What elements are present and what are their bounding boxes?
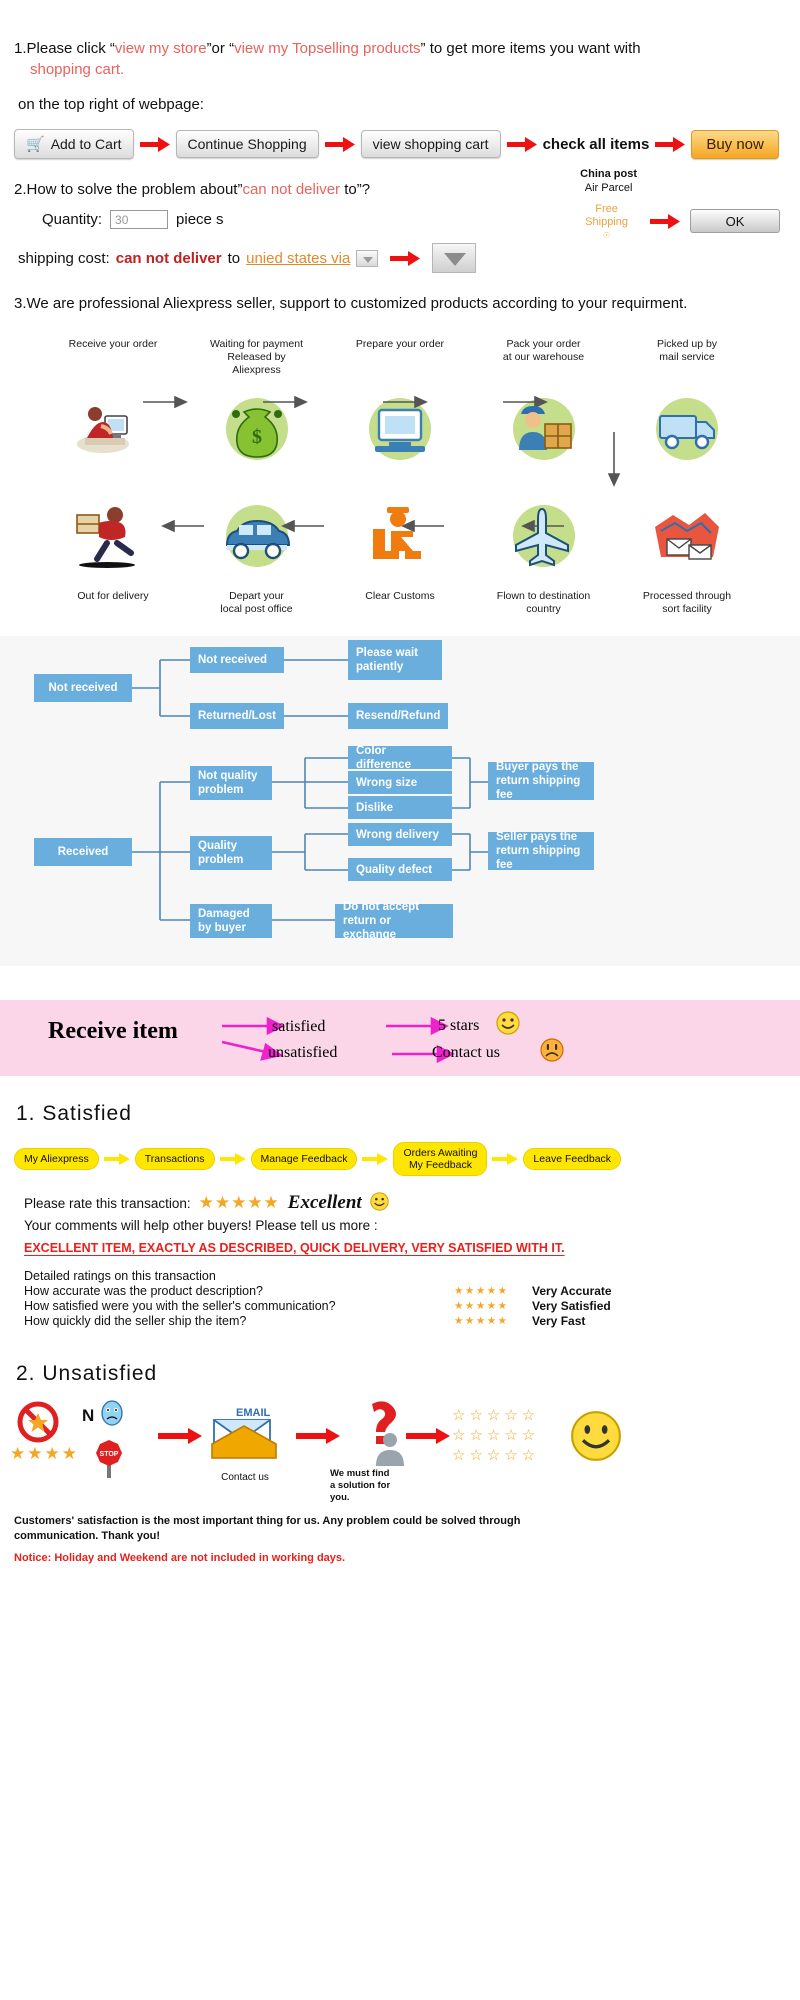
step-transactions-button[interactable]: Transactions	[135, 1148, 215, 1170]
shipping-flow-top-captions: Receive your order Waiting for payment R…	[0, 338, 800, 383]
step-manage-feedback-button[interactable]: Manage Feedback	[251, 1148, 358, 1170]
stop-sign-icon: STOP	[92, 1438, 126, 1483]
flowchart-label: Damaged by buyer	[198, 907, 250, 935]
buy-now-button[interactable]: Buy now	[691, 130, 779, 159]
flow-caption: Pack your order at our warehouse	[491, 338, 597, 364]
detailed-rating-row: How satisfied were you with the seller's…	[0, 1298, 800, 1313]
flowchart-box-do-not-accept: Do not accept return or exchange	[335, 904, 453, 938]
smiley-happy-icon	[370, 1192, 389, 1214]
flowchart-label: Not quality problem	[198, 769, 257, 797]
flow-caption: Picked up by mail service	[634, 338, 740, 364]
rating-stars[interactable]: ★★★★★	[199, 1193, 280, 1213]
flow-caption: Prepare your order	[347, 338, 453, 351]
flowchart-box-received-root: Received	[34, 838, 132, 866]
footer-notice: Notice: Holiday and Weekend are not incl…	[0, 1544, 800, 1564]
flowchart-box-please-wait: Please wait patiently	[348, 640, 442, 680]
section1-shopping-cart-text: shopping cart.	[0, 59, 800, 80]
flow-icon-cell	[634, 383, 740, 475]
red-arrow-icon	[655, 137, 685, 152]
flow-caption-cell: Picked up by mail service	[634, 338, 740, 377]
rating-label: Very Fast	[532, 1314, 585, 1328]
unsatisfied-graphic: ★★★★ N STOP EMAIL Contact us	[0, 1398, 800, 1508]
flow-caption: Out for delivery	[60, 590, 166, 603]
flow-icon-cell	[634, 490, 740, 582]
section1-text-pre: 1.Please click “	[14, 40, 115, 57]
svg-text:$: $	[252, 426, 262, 448]
rating-excellent-label: Excellent	[288, 1192, 362, 1214]
flowchart-box-seller-pays: Seller pays the return shipping fee	[488, 832, 594, 870]
shipping-method-dropdown[interactable]	[432, 243, 476, 273]
rating-stars[interactable]: ★★★★★	[454, 1315, 532, 1327]
step-my-aliexpress-button[interactable]: My Aliexpress	[14, 1148, 99, 1170]
flowchart-box-not-received-root: Not received	[34, 674, 132, 702]
add-to-cart-label: Add to Cart	[51, 136, 122, 152]
flow-caption: Processed through sort facility	[634, 590, 740, 616]
add-to-cart-button[interactable]: 🛒 Add to Cart	[14, 129, 134, 159]
shipping-country-select-label[interactable]: unied states via	[246, 250, 350, 267]
section2-heading-pre: 2.How to solve the problem about”	[14, 181, 242, 198]
rate-transaction-label: Please rate this transaction:	[24, 1196, 191, 1211]
shipping-to-label: to	[228, 250, 241, 267]
money-bag-icon: $	[204, 383, 310, 475]
shipping-flow-bottom-icons	[0, 476, 800, 582]
flowchart-box-quality-problem: Quality problem	[190, 836, 272, 870]
flow-caption: Depart your local post office	[204, 590, 310, 616]
smiley-happy-icon	[570, 1410, 622, 1467]
receive-five-stars-label: 5 stars	[438, 1017, 479, 1035]
flow-caption-cell: Receive your order	[60, 338, 166, 377]
flow-caption-cell: Pack your order at our warehouse	[491, 338, 597, 377]
worker-with-box-icon	[491, 383, 597, 475]
unsatisfied-section: 2. Unsatisfied ★★★★ N STOP EMAIL	[0, 1328, 800, 1564]
flow-caption-cell: Flown to destination country	[491, 590, 597, 616]
detailed-rating-row: How accurate was the product description…	[0, 1283, 800, 1298]
receive-item-banner: Receive item satisfied unsatisfied 5 sta…	[0, 1000, 800, 1076]
rate-transaction-row: Please rate this transaction: ★★★★★ Exce…	[0, 1176, 800, 1214]
flow-caption-cell: Depart your local post office	[204, 590, 310, 616]
flow-caption: Receive your order	[60, 338, 166, 351]
continue-shopping-label: Continue Shopping	[188, 136, 307, 152]
rating-stars[interactable]: ★★★★★	[454, 1300, 532, 1312]
section1-line1: 1.Please click “view my store”or “view m…	[0, 38, 800, 59]
flow-caption: Flown to destination country	[491, 590, 597, 616]
footer-line1: Customers' satisfaction is the most impo…	[0, 1508, 800, 1529]
flow-caption-cell: Prepare your order	[347, 338, 453, 377]
flowchart-label: Please wait patiently	[356, 646, 418, 674]
yellow-arrow-icon	[104, 1151, 130, 1168]
link-view-my-store[interactable]: view my store	[115, 40, 207, 57]
red-arrow-icon	[140, 137, 170, 152]
flow-icon-cell	[347, 490, 453, 582]
section2-heading-red: can not deliver	[242, 181, 340, 198]
flowchart-box-not-received: Not received	[190, 647, 284, 673]
flow-icon-cell: $	[204, 383, 310, 475]
flow-caption: Clear Customs	[347, 590, 453, 603]
rating-question: How accurate was the product description…	[24, 1284, 454, 1298]
mail-truck-icon	[634, 383, 740, 475]
flowchart-box-wrong-delivery: Wrong delivery	[348, 823, 452, 846]
flow-caption-cell: Clear Customs	[347, 590, 453, 616]
section1-text-post: ” to get more items you want with	[421, 40, 641, 57]
comment-prompt: Your comments will help other buyers! Pl…	[0, 1214, 800, 1233]
section2-heading-post: to”?	[340, 181, 370, 198]
flow-caption-cell: Out for delivery	[60, 590, 166, 616]
rating-label: Very Satisfied	[532, 1299, 611, 1313]
piece-label: piece s	[176, 211, 224, 228]
smiley-sad-icon	[540, 1038, 564, 1067]
high-rating-stars: ☆☆☆☆☆☆☆☆☆☆☆☆☆☆☆	[452, 1406, 539, 1466]
flowchart-box-returned-lost: Returned/Lost	[190, 703, 284, 729]
flow-icon-cell	[60, 383, 166, 475]
satisfied-section: 1. Satisfied My Aliexpress Transactions …	[0, 1076, 800, 1328]
view-shopping-cart-label: view shopping cart	[373, 136, 489, 152]
shipping-cannot-deliver: can not deliver	[116, 250, 222, 267]
free-shipping-line2: Shipping	[585, 216, 628, 229]
check-all-items-label: check all items	[543, 136, 650, 153]
free-shipping-label: Free Shipping ☉	[585, 203, 628, 242]
ok-button-group: OK	[650, 209, 780, 233]
continue-shopping-button[interactable]: Continue Shopping	[176, 130, 319, 158]
product-description-page: 1.Please click “view my store”or “view m…	[0, 0, 800, 1564]
shipping-cost-label: shipping cost:	[18, 250, 110, 267]
cart-icon: 🛒	[26, 135, 45, 153]
section1-text-mid: ”or “	[207, 40, 235, 57]
receive-banner-arrows	[0, 1000, 800, 1076]
flow-icon-cell	[204, 490, 310, 582]
airplane-icon	[491, 490, 597, 582]
svg-text:EMAIL: EMAIL	[236, 1407, 271, 1419]
mail-pile-icon	[634, 490, 740, 582]
quantity-label: Quantity:	[42, 211, 102, 228]
shipping-flow-bottom-captions: Out for delivery Depart your local post …	[0, 582, 800, 616]
receive-satisfied-label: satisfied	[272, 1018, 325, 1036]
shipping-flow-graphic: Receive your order Waiting for payment R…	[0, 312, 800, 626]
yellow-arrow-icon	[362, 1151, 388, 1168]
quantity-input[interactable]	[110, 210, 168, 229]
section2-heading: 2.How to solve the problem about”can not…	[0, 181, 800, 198]
detailed-rating-row: How quickly did the seller ship the item…	[0, 1313, 800, 1328]
customs-officer-icon	[347, 490, 453, 582]
rating-question: How quickly did the seller ship the item…	[24, 1314, 454, 1328]
receive-unsatisfied-label: unsatisfied	[268, 1044, 337, 1062]
china-post-line2: Air Parcel	[580, 181, 637, 195]
red-arrow-icon	[325, 137, 355, 152]
detailed-ratings-heading: Detailed ratings on this transaction	[0, 1255, 800, 1283]
receive-contact-us-label: Contact us	[432, 1044, 500, 1062]
flowchart-box-buyer-pays: Buyer pays the return shipping fee	[488, 762, 594, 800]
flowchart-label: Quality problem	[198, 839, 243, 867]
smiley-happy-icon	[496, 1011, 520, 1040]
flowchart-label: Seller pays the return shipping fee	[496, 830, 586, 872]
section1-webpage-note: on the top right of webpage:	[0, 80, 800, 115]
unsatisfied-heading: 2. Unsatisfied	[0, 1328, 800, 1386]
country-dropdown-arrow-icon[interactable]	[356, 250, 378, 267]
footer-line2: communication. Thank you!	[0, 1529, 800, 1544]
red-arrow-icon	[158, 1428, 202, 1444]
flowchart-box-quality-defect: Quality defect	[348, 858, 452, 881]
flow-icon-cell	[491, 490, 597, 582]
section3-heading: 3.We are professional Aliexpress seller,…	[0, 273, 800, 312]
view-shopping-cart-button[interactable]: view shopping cart	[361, 130, 501, 158]
shipping-cost-row: shipping cost: can not deliver to unied …	[0, 229, 800, 273]
running-courier-icon	[60, 490, 166, 582]
rating-stars[interactable]: ★★★★★	[454, 1285, 532, 1297]
flowchart-label: Buyer pays the return shipping fee	[496, 760, 586, 802]
svg-text:STOP: STOP	[100, 1451, 119, 1458]
section-view-store: 1.Please click “view my store”or “view m…	[0, 0, 800, 159]
comment-text: EXCELLENT ITEM, EXACTLY AS DESCRIBED, QU…	[0, 1233, 800, 1255]
flowchart-box-not-quality-problem: Not quality problem	[190, 766, 272, 800]
flow-icon-cell	[347, 383, 453, 475]
free-shipping-line1: Free	[585, 203, 628, 216]
rating-label: Very Accurate	[532, 1284, 612, 1298]
solution-caption: We must find a solution for you.	[330, 1468, 390, 1504]
yellow-arrow-icon	[220, 1151, 246, 1168]
flowchart-box-dislike: Dislike	[348, 796, 452, 819]
person-at-computer-icon	[60, 383, 166, 475]
email-envelope-icon: EMAIL	[206, 1404, 284, 1471]
red-arrow-icon	[406, 1428, 450, 1444]
step-orders-awaiting-feedback-button[interactable]: Orders Awaiting My Feedback	[393, 1142, 487, 1176]
flow-icon-cell	[491, 383, 597, 475]
satisfied-heading: 1. Satisfied	[0, 1076, 800, 1126]
flow-caption-cell: Processed through sort facility	[634, 590, 740, 616]
china-post-label: China post Air Parcel	[580, 167, 637, 195]
checkout-steps-button-row: 🛒 Add to Cart Continue Shopping view sho…	[0, 115, 800, 159]
flowchart-canvas: Not received Not received Please wait pa…	[0, 636, 800, 966]
shipping-flow-top-icons: $	[0, 383, 800, 475]
flow-caption-cell: Waiting for payment Released by Aliexpre…	[204, 338, 310, 377]
free-shipping-info-icon: ☉	[585, 229, 628, 242]
link-view-topselling-products[interactable]: view my Topselling products	[234, 40, 420, 57]
flowchart-label: Do not accept return or exchange	[343, 900, 445, 942]
rating-question: How satisfied were you with the seller's…	[24, 1299, 454, 1313]
flowchart-box-color-difference: Color difference	[348, 746, 452, 769]
returns-policy-flowchart: Not received Not received Please wait pa…	[0, 636, 800, 966]
flowchart-box-resend-refund: Resend/Refund	[348, 703, 448, 729]
no-sign-icon	[16, 1400, 60, 1449]
worried-face-icon	[100, 1400, 124, 1431]
china-post-line1: China post	[580, 167, 637, 181]
yellow-arrow-icon	[492, 1151, 518, 1168]
feedback-steps-row: My Aliexpress Transactions Manage Feedba…	[0, 1126, 800, 1176]
red-arrow-icon	[650, 214, 680, 229]
ok-button[interactable]: OK	[690, 209, 780, 233]
flowchart-box-damaged-by-buyer: Damaged by buyer	[190, 904, 272, 938]
contact-us-caption: Contact us	[206, 1472, 284, 1483]
red-arrow-icon	[507, 137, 537, 152]
computer-box-icon	[347, 383, 453, 475]
flow-icon-cell	[60, 490, 166, 582]
no-label: N	[82, 1406, 94, 1426]
red-arrow-icon	[390, 251, 420, 266]
blue-van-icon	[204, 490, 310, 582]
section-cannot-deliver: 2.How to solve the problem about”can not…	[0, 159, 800, 273]
low-rating-stars: ★★★★	[10, 1444, 79, 1464]
flow-caption: Waiting for payment Released by Aliexpre…	[204, 338, 310, 377]
step-leave-feedback-button[interactable]: Leave Feedback	[523, 1148, 621, 1170]
red-arrow-icon	[296, 1428, 340, 1444]
flowchart-box-wrong-size: Wrong size	[348, 771, 452, 794]
